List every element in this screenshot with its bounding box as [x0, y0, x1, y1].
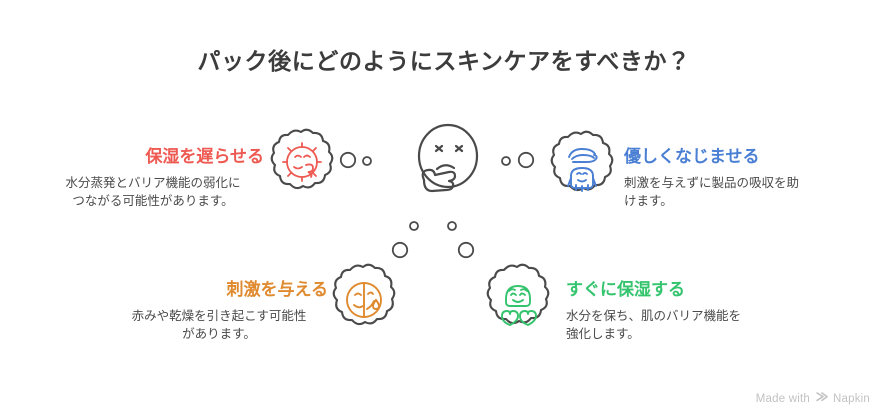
- branch-irritate-heading: 刺激を与える: [110, 281, 328, 300]
- thought-bubble-delay: [266, 126, 338, 205]
- branch-moisturize: すぐに保湿する 水分を保ち、肌のバリア機能を 強化します。: [566, 281, 802, 343]
- branch-moisturize-heading: すぐに保湿する: [566, 281, 802, 300]
- thought-bubble-moisturize: [481, 261, 555, 342]
- thought-dots-down-left: [386, 200, 424, 269]
- branch-gentle: 優しくなじませる 刺激を与えずに製品の吸収を助 けます。: [624, 148, 850, 210]
- branch-gentle-description: 刺激を与えずに製品の吸収を助 けます。: [624, 174, 850, 210]
- watermark-brand: Napkin: [833, 393, 870, 405]
- watermark-made-with: Made with: [756, 393, 810, 405]
- branch-gentle-heading: 優しくなじませる: [624, 148, 850, 167]
- thought-dots-left: [338, 148, 380, 177]
- watermark: Made with Napkin: [756, 391, 870, 406]
- branch-irritate: 刺激を与える 赤みや乾燥を引き起こす可能性 があります。: [110, 281, 328, 343]
- thought-bubble-gentle: [545, 128, 619, 209]
- thought-bubble-irritate: [326, 261, 402, 344]
- branch-irritate-description: 赤みや乾燥を引き起こす可能性 があります。: [110, 307, 328, 343]
- page-title: パック後にどのようにスキンケアをすべきか？: [0, 42, 888, 76]
- branch-delay-description: 水分蒸発とバリア機能の弱化に つながる可能性があります。: [42, 174, 264, 210]
- napkin-logo-icon: [815, 391, 828, 406]
- branch-moisturize-description: 水分を保ち、肌のバリア機能を 強化します。: [566, 307, 802, 343]
- thought-dots-right: [498, 148, 540, 177]
- branch-delay: 保湿を遅らせる 水分蒸発とバリア機能の弱化に つながる可能性があります。: [42, 148, 264, 210]
- thinking-face-icon: [404, 122, 488, 207]
- branch-delay-heading: 保湿を遅らせる: [42, 148, 264, 167]
- thought-dots-down-right: [442, 200, 480, 269]
